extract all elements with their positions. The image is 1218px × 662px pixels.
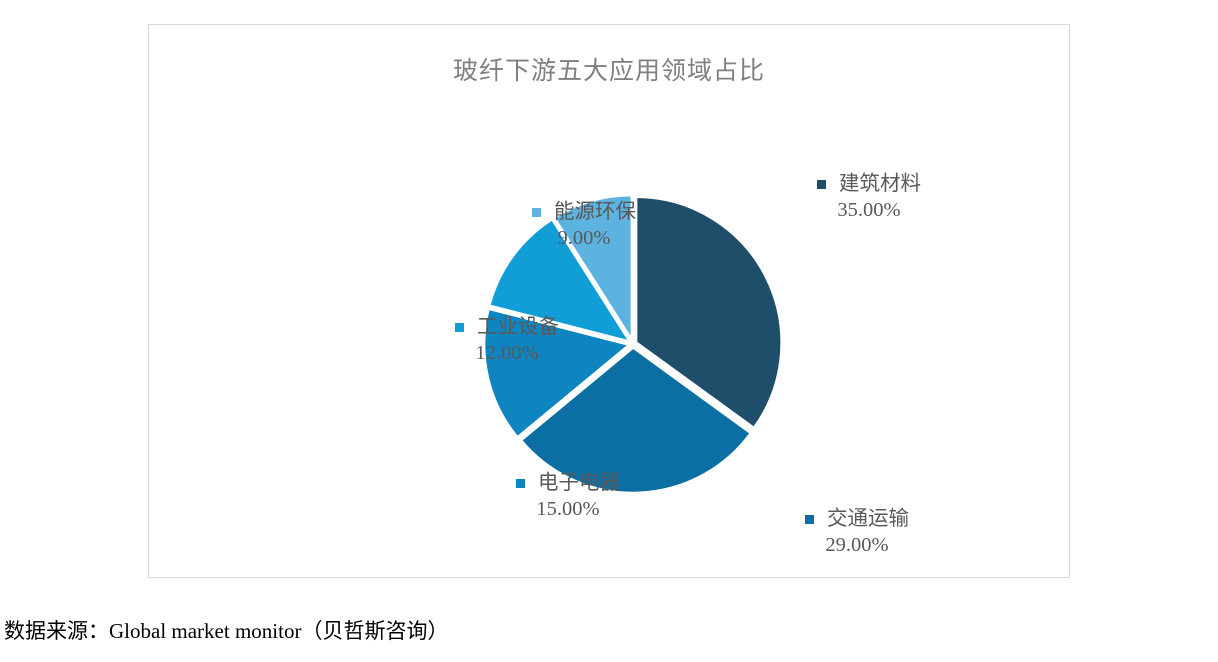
data-label-交通运输: 交通运输 29.00% [805, 506, 909, 558]
legend-marker-icon [817, 180, 826, 189]
data-label-工业设备: 工业设备 12.00% [455, 314, 559, 366]
legend-marker-icon [455, 323, 464, 332]
data-label-name: 交通运输 [827, 506, 909, 532]
data-label-name: 工业设备 [477, 314, 559, 340]
data-label-value: 9.00% [532, 225, 636, 251]
data-label-value: 15.00% [516, 496, 620, 522]
data-label-value: 29.00% [805, 532, 909, 558]
legend-marker-icon [516, 479, 525, 488]
data-label-name: 能源环保 [554, 199, 636, 225]
legend-marker-icon [805, 515, 814, 524]
data-label-value: 12.00% [455, 340, 559, 366]
data-label-value: 35.00% [817, 197, 921, 223]
data-label-能源环保: 能源环保 9.00% [532, 199, 636, 251]
data-label-name: 建筑材料 [839, 171, 921, 197]
data-label-name: 电子电器 [538, 470, 620, 496]
chart-frame: 玻纤下游五大应用领域占比 建筑材料 35.00% 交通运输 29.00% 电子电… [148, 24, 1070, 578]
source-note: 数据来源：Global market monitor（贝哲斯咨询） [4, 615, 448, 645]
legend-marker-icon [532, 208, 541, 217]
data-label-电子电器: 电子电器 15.00% [516, 470, 620, 522]
data-label-建筑材料: 建筑材料 35.00% [817, 171, 921, 223]
